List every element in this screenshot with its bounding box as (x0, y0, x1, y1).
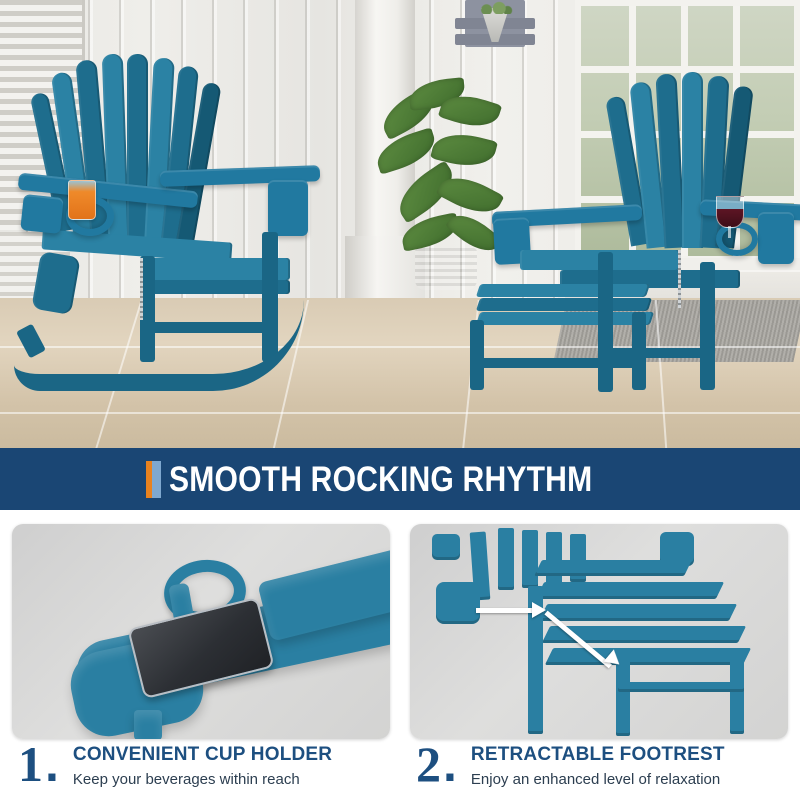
hero-image (0, 0, 800, 448)
feature-number-1-dot: . (45, 742, 59, 786)
motion-arrow-1-head (532, 602, 546, 618)
feature-panels: 1 . CONVENIENT CUP HOLDER Keep your beve… (0, 510, 800, 800)
feature-number-2: 2 (416, 742, 440, 786)
chain (140, 258, 143, 320)
feature-caption-2: 2 . RETRACTABLE FOOTREST Enjoy an enhanc… (416, 742, 725, 790)
feature-subtitle-1: Keep your beverages within reach (73, 770, 332, 790)
banner-title: SMOOTH ROCKING RHYTHM (169, 462, 592, 497)
feature-image-footrest (410, 524, 788, 739)
feature-image-cup-holder (12, 524, 390, 739)
feature-title-1: CONVENIENT CUP HOLDER (73, 744, 332, 766)
plant-pot (415, 248, 477, 290)
smartphone (127, 597, 274, 699)
chain (678, 250, 681, 308)
accent-bar-blue (152, 461, 161, 498)
headline-banner: SMOOTH ROCKING RHYTHM (0, 448, 800, 510)
feature-number-2-dot: . (443, 742, 457, 786)
feature-number-1: 1 (18, 742, 42, 786)
wall-planter-foliage (474, 0, 516, 14)
motion-arrow-1 (476, 608, 534, 613)
product-infographic: SMOOTH ROCKING RHYTHM (0, 0, 800, 800)
orange-drink-glass (68, 180, 96, 220)
feature-caption-1: 1 . CONVENIENT CUP HOLDER Keep your beve… (18, 742, 332, 790)
feature-title-2: RETRACTABLE FOOTREST (471, 744, 725, 766)
wine-glass (716, 196, 744, 228)
feature-subtitle-2: Enjoy an enhanced level of relaxation (471, 770, 725, 790)
